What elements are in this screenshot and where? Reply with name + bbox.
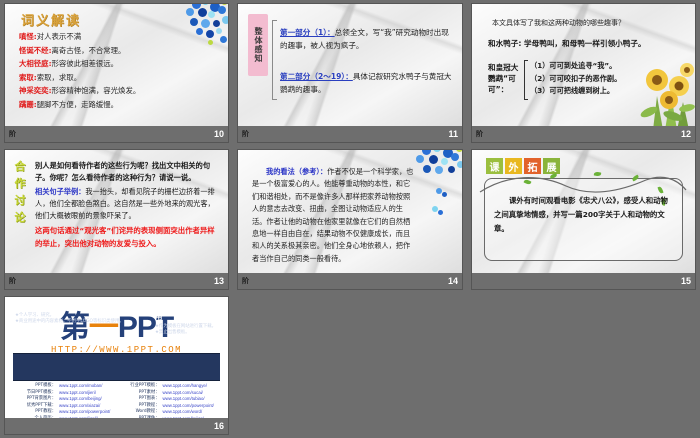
slide-13-stage: 合作讨论 别人是如何看待作者的这些行为呢？找出文中相关的句子。你呢？怎么看待作者… [5, 150, 228, 273]
link-label: Word教程： [117, 409, 163, 416]
list-item: 嗔怪:对人表示不满 [19, 30, 220, 44]
usage-band [13, 353, 220, 381]
forbidden-column: 不可以在以下情况使用 ★作为模板在网站进行置下载。 ★禁止出售模板。 [155, 300, 228, 336]
view-text: 作者不仅是一个科学家，也是一个极富爱心的人。他能尊重动物的本性，和它们和谐相处，… [252, 167, 413, 263]
list-item: 索取:索取，求取。 [19, 71, 220, 85]
slide-number: 15 [681, 276, 691, 286]
slide-11-stage: 整体感知 第一部分（1）：总领全文，写“我”研究动物时出现的趣事，被人视为疯子。… [238, 4, 462, 126]
footer-glyph: 阶 [476, 129, 482, 139]
forbidden-line: ★作为模板在网站进行置下载。 [155, 324, 228, 329]
slide-14[interactable]: 我的看法（参考）：作者不仅是一个科学家，也是一个极富爱心的人。他能尊重动物的本性… [238, 150, 462, 289]
part-two-label: 第二部分（2～19）： [280, 72, 353, 81]
link-label: PPT模板： [13, 383, 59, 390]
term: 嗔怪: [19, 32, 37, 41]
license-slide: 第一PPT HTTP://WWW.1PPT.COM 可以在下列情况使用 ★个人学… [5, 297, 228, 418]
slide-footer: 16 [5, 418, 228, 434]
links-labels: PPT模板： 节日PPT模板： PPT背景图片： 优秀PPT下载： PPT教程：… [13, 383, 59, 412]
slide-13[interactable]: 合作讨论 别人是如何看待作者的这些行为呢？找出文中相关的句子。你呢？怎么看待作者… [5, 150, 228, 289]
definition: 形容精神饱满，容光焕发。 [52, 86, 141, 95]
links-group-left: PPT模板： 节日PPT模板： PPT背景图片： 优秀PPT下载： PPT教程：… [13, 383, 117, 412]
answer-parrot-items: （1）可可到处追寻“我”。 （2）可可咬扣子的恶作剧。 （3）可可把线缠到树上。 [530, 60, 621, 98]
word-meaning-list: 嗔怪:对人表示不满 怪诞不经:离奇古怪，不合常理。 大相径庭:形容彼此相差很远。… [19, 30, 220, 112]
definition: 腿脚不方便，走路缓慢。 [37, 100, 118, 109]
slide-cell-13[interactable]: 合作讨论 别人是如何看待作者的这些行为呢？找出文中相关的句子。你呢？怎么看待作者… [0, 146, 233, 293]
list-item: 大相径庭:形容彼此相差很远。 [19, 57, 220, 71]
slide-12[interactable]: 本文具体写了我和这两种动物的哪些趣事？ 和水鸭子: 学母鸭叫，和母鸭一样引领小鸭… [472, 4, 695, 142]
slide-footer: 阶 12 [472, 126, 695, 142]
link-url[interactable]: www.1ppt.com/hangye/ [163, 383, 221, 390]
term: 神采奕奕: [19, 86, 52, 95]
footer-glyph: 阶 [9, 129, 15, 139]
definition: 形容彼此相差很远。 [52, 59, 119, 68]
slide-footer: 阶 10 [5, 126, 228, 142]
answer-duck: 和水鸭子: 学母鸭叫，和母鸭一样引领小鸭子。 [488, 38, 646, 49]
slide-12-stage: 本文具体写了我和这两种动物的哪些趣事？ 和水鸭子: 学母鸭叫，和母鸭一样引领小鸭… [472, 4, 695, 126]
slide-11[interactable]: 整体感知 第一部分（1）：总领全文，写“我”研究动物时出现的趣事，被人视为疯子。… [238, 4, 462, 142]
sunflower-decoration [613, 56, 695, 126]
list-item: 神采奕奕:形容精神饱满，容光焕发。 [19, 84, 220, 98]
slide-footer: 阶 11 [238, 126, 462, 142]
link-label: 行业PPT模板： [117, 383, 163, 390]
assignment-text: 课外有时间观看电影《忠犬八公》，感受人和动物之间真挚地情感，并写一篇200字关于… [494, 194, 675, 236]
links-labels: 行业PPT模板： PPT素材： PPT图表： PPT教程： Word教程： PP… [117, 383, 163, 412]
example-block: 相关句子举例：我一抬头，却看见院子的栅栏边挤着一排人，他们全都脸色煞白。这自然是… [35, 186, 220, 222]
definition: 索取，求取。 [37, 73, 81, 82]
slide-14-stage: 我的看法（参考）：作者不仅是一个科学家，也是一个极富爱心的人。他能尊重动物的本性… [238, 150, 462, 273]
term: 大相径庭: [19, 59, 52, 68]
list-item: （2）可可咬扣子的恶作剧。 [530, 73, 621, 86]
slide-number: 16 [214, 421, 224, 431]
part-two: 第二部分（2～19）：具体记叙研究水鸭子与黄冠大鹦鹉的趣事。 [280, 70, 452, 96]
empty-cell [467, 293, 700, 438]
example-label: 相关句子举例： [35, 187, 85, 196]
view-paragraph: 我的看法（参考）：作者不仅是一个科学家，也是一个极富爱心的人。他能尊重动物的本性… [252, 166, 416, 265]
slide-cell-16[interactable]: 第一PPT HTTP://WWW.1PPT.COM 可以在下列情况使用 ★个人学… [0, 293, 233, 438]
links-group-right: 行业PPT模板： PPT素材： PPT图表： PPT教程： Word教程： PP… [117, 383, 221, 412]
link-url[interactable]: www.1ppt.com/word/ [163, 409, 221, 416]
slide-10[interactable]: 词义解读 嗔怪:对人表示不满 怪诞不经:离奇古怪，不合常理。 大相径庭:形容彼此… [5, 4, 228, 142]
part-one-label: 第一部分（1）： [280, 28, 335, 37]
slide-cell-11[interactable]: 整体感知 第一部分（1）：总领全文，写“我”研究动物时出现的趣事，被人视为疯子。… [233, 0, 467, 146]
link-url[interactable]: www.1ppt.com/moban/ [59, 383, 117, 390]
slide-number: 13 [214, 276, 224, 286]
bracket-decoration [524, 60, 528, 100]
slide-cell-14[interactable]: 我的看法（参考）：作者不仅是一个科学家，也是一个极富爱心的人。他能尊重动物的本性… [233, 146, 467, 293]
title-tile: 课 [486, 158, 503, 174]
leaf-icon [594, 171, 602, 176]
link-url[interactable]: www.1ppt.com/jieri/ [59, 390, 117, 397]
part-one: 第一部分（1）：总领全文，写“我”研究动物时出现的趣事，被人视为疯子。 [280, 26, 452, 52]
link-url[interactable]: www.1ppt.com/tubiao/ [163, 396, 221, 403]
allowed-line: ★商业用途中的内容素材，不用于LOGO等标识类使用。 [15, 319, 124, 324]
slide-15-stage: 课 外 拓 展 课外有时间观看电影《忠犬八公》，感受人和动物之间真挚地情感，并写… [472, 150, 695, 273]
empty-cell [233, 293, 467, 438]
question-text: 别人是如何看待作者的这些行为呢？找出文中相关的句子。你呢？怎么看待作者的这种行为… [35, 160, 220, 185]
slide-footer: 15 [472, 273, 695, 289]
slide-15[interactable]: 课 外 拓 展 课外有时间观看电影《忠犬八公》，感受人和动物之间真挚地情感，并写… [472, 150, 695, 289]
answer-parrot-label: 和皇冠大鹦鹉“可可”： [488, 62, 522, 95]
definition: 对人表示不满 [37, 32, 81, 41]
slide-footer: 阶 14 [238, 273, 462, 289]
title-tile: 外 [505, 158, 522, 174]
section-tab: 整体感知 [248, 14, 268, 76]
title-tile: 拓 [524, 158, 541, 174]
link-url[interactable]: www.1ppt.com/xiazai/ [59, 403, 117, 410]
link-label: 个人简历： [13, 416, 59, 418]
link-label: PPT教程： [13, 409, 59, 416]
link-label: PPT背景图片： [13, 396, 59, 403]
link-url[interactable]: www.1ppt.com/powerpoint/ [163, 403, 221, 410]
slide-number: 12 [681, 129, 691, 139]
slide-cell-10[interactable]: 词义解读 嗔怪:对人表示不满 怪诞不经:离奇古怪，不合常理。 大相径庭:形容彼此… [0, 0, 233, 146]
term: 怪诞不经: [19, 46, 52, 55]
slide-footer: 阶 13 [5, 273, 228, 289]
link-url[interactable]: www.1ppt.com/powerpoint/ [59, 409, 117, 416]
link-url[interactable]: www.1ppt.com/jianli/ [59, 416, 117, 418]
term: 索取: [19, 73, 37, 82]
resource-links: PPT模板： 节日PPT模板： PPT背景图片： 优秀PPT下载： PPT教程：… [13, 383, 220, 412]
slide-16-stage: 第一PPT HTTP://WWW.1PPT.COM 可以在下列情况使用 ★个人学… [5, 297, 228, 418]
term: 蹒跚: [19, 100, 37, 109]
allowed-heading: 可以在下列情况使用 [15, 300, 124, 311]
slide-number: 10 [214, 129, 224, 139]
title-tile: 展 [543, 158, 560, 174]
link-label: PPT图表： [117, 396, 163, 403]
link-url[interactable]: www.1ppt.com/beijing/ [59, 396, 117, 403]
links-urls: www.1ppt.com/moban/ www.1ppt.com/jieri/ … [59, 383, 117, 412]
footer-glyph: 阶 [242, 129, 248, 139]
summary-text: 这两句话通过“观光客”们诧异的表现侧面突出作者异样的举止，突出他对动物的友爱与投… [35, 224, 220, 250]
slide-number: 14 [448, 276, 458, 286]
forbidden-line: ★禁止出售模板。 [155, 330, 228, 335]
list-item: （1）可可到处追寻“我”。 [530, 60, 621, 73]
bracket-decoration [272, 20, 277, 100]
view-label: 我的看法（参考）： [266, 167, 327, 176]
question-text: 本文具体写了我和这两种动物的哪些趣事？ [492, 18, 625, 28]
list-item: 怪诞不经:离奇古怪，不合常理。 [19, 44, 220, 58]
page-title: 词义解读 [21, 10, 81, 29]
slide-16[interactable]: 第一PPT HTTP://WWW.1PPT.COM 可以在下列情况使用 ★个人学… [5, 297, 228, 434]
link-url[interactable]: www.1ppt.com/kejian/ [163, 416, 221, 418]
slide-number: 11 [448, 129, 458, 139]
slide-10-stage: 词义解读 嗔怪:对人表示不满 怪诞不经:离奇古怪，不合常理。 大相径庭:形容彼此… [5, 4, 228, 126]
section-tab-label: 整体感知 [253, 27, 263, 63]
section-title-vertical: 合作讨论 [11, 158, 29, 226]
allowed-line: ★个人学习、研究。 [15, 313, 124, 318]
link-label: PPT课件： [117, 416, 163, 418]
forbidden-heading: 不可以在以下情况使用 [155, 300, 228, 322]
section-title-tiles: 课 外 拓 展 [486, 158, 560, 174]
allowed-column: 可以在下列情况使用 ★个人学习、研究。 ★商业用途中的内容素材，不用于LOGO等… [15, 300, 124, 325]
footer-glyph: 阶 [242, 276, 248, 286]
links-urls: www.1ppt.com/hangye/ www.1ppt.com/sucai/… [163, 383, 221, 412]
slide-thumbnail-grid: 词义解读 嗔怪:对人表示不满 怪诞不经:离奇古怪，不合常理。 大相径庭:形容彼此… [0, 0, 700, 438]
list-item: （3）可可把线缠到树上。 [530, 85, 621, 98]
footer-glyph: 阶 [9, 276, 15, 286]
link-url[interactable]: www.1ppt.com/sucai/ [163, 390, 221, 397]
slide-cell-15[interactable]: 课 外 拓 展 课外有时间观看电影《忠犬八公》，感受人和动物之间真挚地情感，并写… [467, 146, 700, 293]
list-item: 蹒跚:腿脚不方便，走路缓慢。 [19, 98, 220, 112]
slide-cell-12[interactable]: 本文具体写了我和这两种动物的哪些趣事？ 和水鸭子: 学母鸭叫，和母鸭一样引领小鸭… [467, 0, 700, 146]
definition: 离奇古怪，不合常理。 [52, 46, 126, 55]
